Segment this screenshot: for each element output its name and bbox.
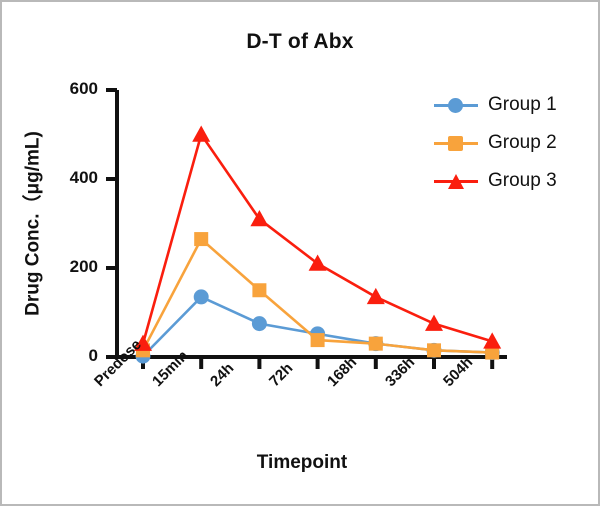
chart-legend: Group 1 Group 2 Group 3 <box>434 86 557 200</box>
y-tick-label: 0 <box>38 346 98 366</box>
data-point-square <box>311 333 325 347</box>
legend-label-group-2: Group 2 <box>488 132 557 154</box>
plot-svg <box>2 2 598 504</box>
data-point-circle <box>252 316 267 331</box>
data-point-triangle <box>192 126 210 142</box>
data-point-square <box>194 232 208 246</box>
triangle-marker-icon <box>448 174 464 189</box>
legend-label-group-1: Group 1 <box>488 94 557 116</box>
data-point-circle <box>194 289 209 304</box>
square-marker-icon <box>448 136 463 151</box>
legend-key-group-1 <box>434 94 478 116</box>
chart-figure: D-T of Abx Drug Conc.（μg/mL) Timepoint 0… <box>0 0 600 506</box>
y-tick-label: 200 <box>38 257 98 277</box>
data-point-square <box>369 337 383 351</box>
y-tick-label: 400 <box>38 168 98 188</box>
data-point-triangle <box>425 315 443 331</box>
y-tick-label: 600 <box>38 79 98 99</box>
legend-item-group-2[interactable]: Group 2 <box>434 124 557 162</box>
legend-label-group-3: Group 3 <box>488 170 557 192</box>
circle-marker-icon <box>448 98 463 113</box>
data-point-triangle <box>309 255 327 271</box>
legend-key-group-2 <box>434 132 478 154</box>
legend-item-group-3[interactable]: Group 3 <box>434 162 557 200</box>
data-point-square <box>252 283 266 297</box>
legend-item-group-1[interactable]: Group 1 <box>434 86 557 124</box>
data-point-triangle <box>250 210 268 226</box>
chart-area: D-T of Abx Drug Conc.（μg/mL) Timepoint 0… <box>2 2 598 504</box>
data-point-square <box>427 343 441 357</box>
data-point-triangle <box>367 288 385 304</box>
legend-key-group-3 <box>434 170 478 192</box>
